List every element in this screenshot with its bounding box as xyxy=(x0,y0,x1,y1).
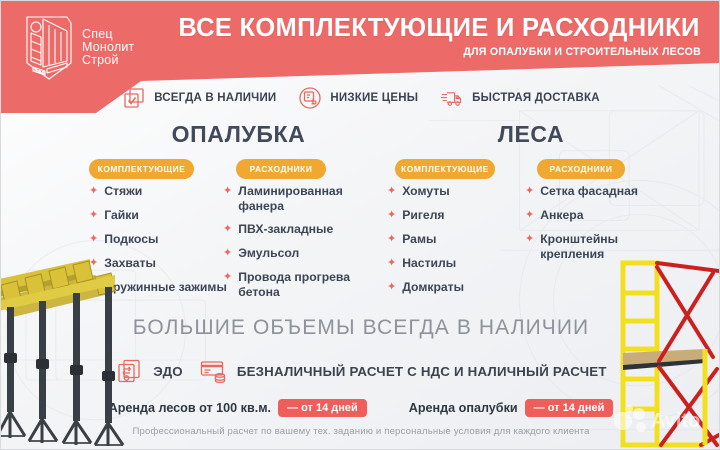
edo-documents-exchange-icon xyxy=(115,358,145,384)
list-item-label: Гайки xyxy=(104,208,139,223)
bullet-icon: ✦ xyxy=(525,184,534,199)
list-item-label: Анкера xyxy=(540,208,583,223)
footer-note: Профессиональный расчет по вашему тех. з… xyxy=(1,426,720,437)
list-item-label: Провода прогрева бетона xyxy=(238,270,373,299)
column-tag-1: РАСХОДНИКИ xyxy=(236,159,326,179)
list-item-label: Пружинные зажимы xyxy=(104,280,227,295)
list-item: ✦Кронштейны крепления xyxy=(525,232,675,261)
column-tag-0: КОМПЛЕКТУЮЩИЕ xyxy=(89,159,194,179)
brand-line-2: Монолит xyxy=(82,41,135,54)
feature-low-prices: НИЗКИЕ ЦЕНЫ xyxy=(298,86,418,110)
list-item-label: ПВХ-закладные xyxy=(238,222,333,237)
bullet-icon: ✦ xyxy=(223,184,232,199)
price-tag-circle-icon xyxy=(298,86,322,110)
payment-cashless: БЕЗНАЛИЧНЫЙ РАСЧЕТ С НДС И НАЛИЧНЫЙ РАСЧ… xyxy=(199,358,607,384)
list-item-label: Захваты xyxy=(104,256,156,271)
feature-label: НИЗКИЕ ЦЕНЫ xyxy=(330,92,418,104)
brand-logo[interactable]: Спец Монолит Строй xyxy=(23,9,153,85)
list-item: ✦Ригеля xyxy=(387,208,517,223)
rentals-row: Аренда лесов от 100 кв.м. — от 14 дней А… xyxy=(1,397,720,419)
list-item-label: Настилы xyxy=(402,256,456,271)
column-list-2: ✦Хомуты✦Ригеля✦Рамы✦Настилы✦Домкраты xyxy=(387,184,517,304)
bullet-icon: ✦ xyxy=(525,208,534,223)
list-item: ✦Хомуты xyxy=(387,184,517,199)
list-item-label: Сетка фасадная xyxy=(540,184,638,199)
rental-pill: — от 14 дней xyxy=(525,399,614,417)
list-item-label: Домкраты xyxy=(402,280,464,295)
column-list-3: ✦Сетка фасадная✦Анкера✦Кронштейны крепле… xyxy=(525,184,675,270)
list-item-label: Эмульсол xyxy=(238,246,299,261)
list-item: ✦ПВХ-закладные xyxy=(223,222,373,237)
section-title-opalubka: ОПАЛУБКА xyxy=(96,121,381,148)
building-crane-logo-icon xyxy=(23,11,75,83)
list-item: ✦Ламинированная фанера xyxy=(223,184,373,213)
feature-label: БЫСТРАЯ ДОСТАВКА xyxy=(472,92,600,104)
column-list-0: ✦Стяжи✦Гайки✦Подкосы✦Захваты✦Пружинные з… xyxy=(89,184,229,304)
brand-line-3: Строй xyxy=(82,54,135,67)
header-subtitle: ДЛЯ ОПАЛУБКИ И СТРОИТЕЛЬНЫХ ЛЕСОВ xyxy=(169,46,709,58)
bullet-icon: ✦ xyxy=(525,232,534,247)
bullet-icon: ✦ xyxy=(387,280,396,295)
big-volumes-line: БОЛЬШИЕ ОБЪЕМЫ ВСЕГДА В НАЛИЧИИ xyxy=(1,316,720,340)
list-item-label: Кронштейны крепления xyxy=(540,232,675,261)
payment-label: БЕЗНАЛИЧНЫЙ РАСЧЕТ С НДС И НАЛИЧНЫЙ РАСЧ… xyxy=(237,364,607,379)
list-item-label: Рамы xyxy=(402,232,436,247)
list-item: ✦Эмульсол xyxy=(223,246,373,261)
column-tag-3: РАСХОДНИКИ xyxy=(537,159,625,179)
list-item: ✦Захваты xyxy=(89,256,229,271)
list-item-label: Хомуты xyxy=(402,184,449,199)
bullet-icon: ✦ xyxy=(223,246,232,261)
section-title-lesa: ЛЕСА xyxy=(391,121,671,148)
feature-always-in-stock: ВСЕГДА В НАЛИЧИИ xyxy=(122,86,276,110)
list-item: ✦Подкосы xyxy=(89,232,229,247)
bullet-icon: ✦ xyxy=(223,270,232,285)
list-item: ✦Домкраты xyxy=(387,280,517,295)
column-list-1: ✦Ламинированная фанера✦ПВХ-закладные✦Эму… xyxy=(223,184,373,308)
checkbox-stack-icon xyxy=(122,86,146,110)
list-item: ✦Стяжи xyxy=(89,184,229,199)
list-item-label: Стяжи xyxy=(104,184,142,199)
scaffolding-tower-illustration xyxy=(601,249,720,449)
list-item-label: Ригеля xyxy=(402,208,444,223)
bullet-icon: ✦ xyxy=(89,232,98,247)
advertisement-banner: Спец Монолит Строй ВСЕ КОМПЛЕКТУЮЩИЕ И Р… xyxy=(0,0,720,450)
bullet-icon: ✦ xyxy=(387,208,396,223)
bullet-icon: ✦ xyxy=(387,184,396,199)
payment-label: ЭДО xyxy=(153,364,183,379)
bullet-icon: ✦ xyxy=(89,208,98,223)
payments-row: ЭДО БЕЗНАЛИЧНЫЙ РАСЧЕТ С НДС И НАЛИЧНЫЙ … xyxy=(1,353,720,389)
bullet-icon: ✦ xyxy=(387,232,396,247)
feature-badges-row: ВСЕГДА В НАЛИЧИИ НИЗКИЕ ЦЕНЫ xyxy=(1,79,720,117)
list-item: ✦Настилы xyxy=(387,256,517,271)
list-item: ✦Пружинные зажимы xyxy=(89,280,229,295)
rental-pill: — от 14 дней xyxy=(278,399,367,417)
bullet-icon: ✦ xyxy=(89,280,98,295)
rental-formwork: Аренда опалубки — от 14 дней xyxy=(409,399,614,417)
list-item-label: Ламинированная фанера xyxy=(238,184,373,213)
bullet-icon: ✦ xyxy=(387,256,396,271)
rental-label: Аренда опалубки xyxy=(409,401,518,415)
list-item: ✦Провода прогрева бетона xyxy=(223,270,373,299)
bullet-icon: ✦ xyxy=(89,256,98,271)
list-item: ✦Рамы xyxy=(387,232,517,247)
rental-label: Аренда лесов от 100 кв.м. xyxy=(109,401,271,415)
list-item: ✦Гайки xyxy=(89,208,229,223)
list-item: ✦Сетка фасадная xyxy=(525,184,675,199)
delivery-truck-icon xyxy=(440,86,464,110)
rental-scaffolding: Аренда лесов от 100 кв.м. — от 14 дней xyxy=(109,399,367,417)
feature-label: ВСЕГДА В НАЛИЧИИ xyxy=(154,92,276,104)
bullet-icon: ✦ xyxy=(89,184,98,199)
payment-edo: ЭДО xyxy=(115,358,183,384)
card-and-coins-icon xyxy=(199,358,229,384)
bullet-icon: ✦ xyxy=(223,222,232,237)
brand-line-1: Спец xyxy=(82,28,135,41)
column-tag-2: КОМПЛЕКТУЮЩИЕ xyxy=(395,159,495,179)
list-item: ✦Анкера xyxy=(525,208,675,223)
list-item-label: Подкосы xyxy=(104,232,158,247)
header-title: ВСЕ КОМПЛЕКТУЮЩИЕ И РАСХОДНИКИ xyxy=(169,14,709,43)
feature-fast-delivery: БЫСТРАЯ ДОСТАВКА xyxy=(440,86,600,110)
brand-name: Спец Монолит Строй xyxy=(82,28,135,67)
